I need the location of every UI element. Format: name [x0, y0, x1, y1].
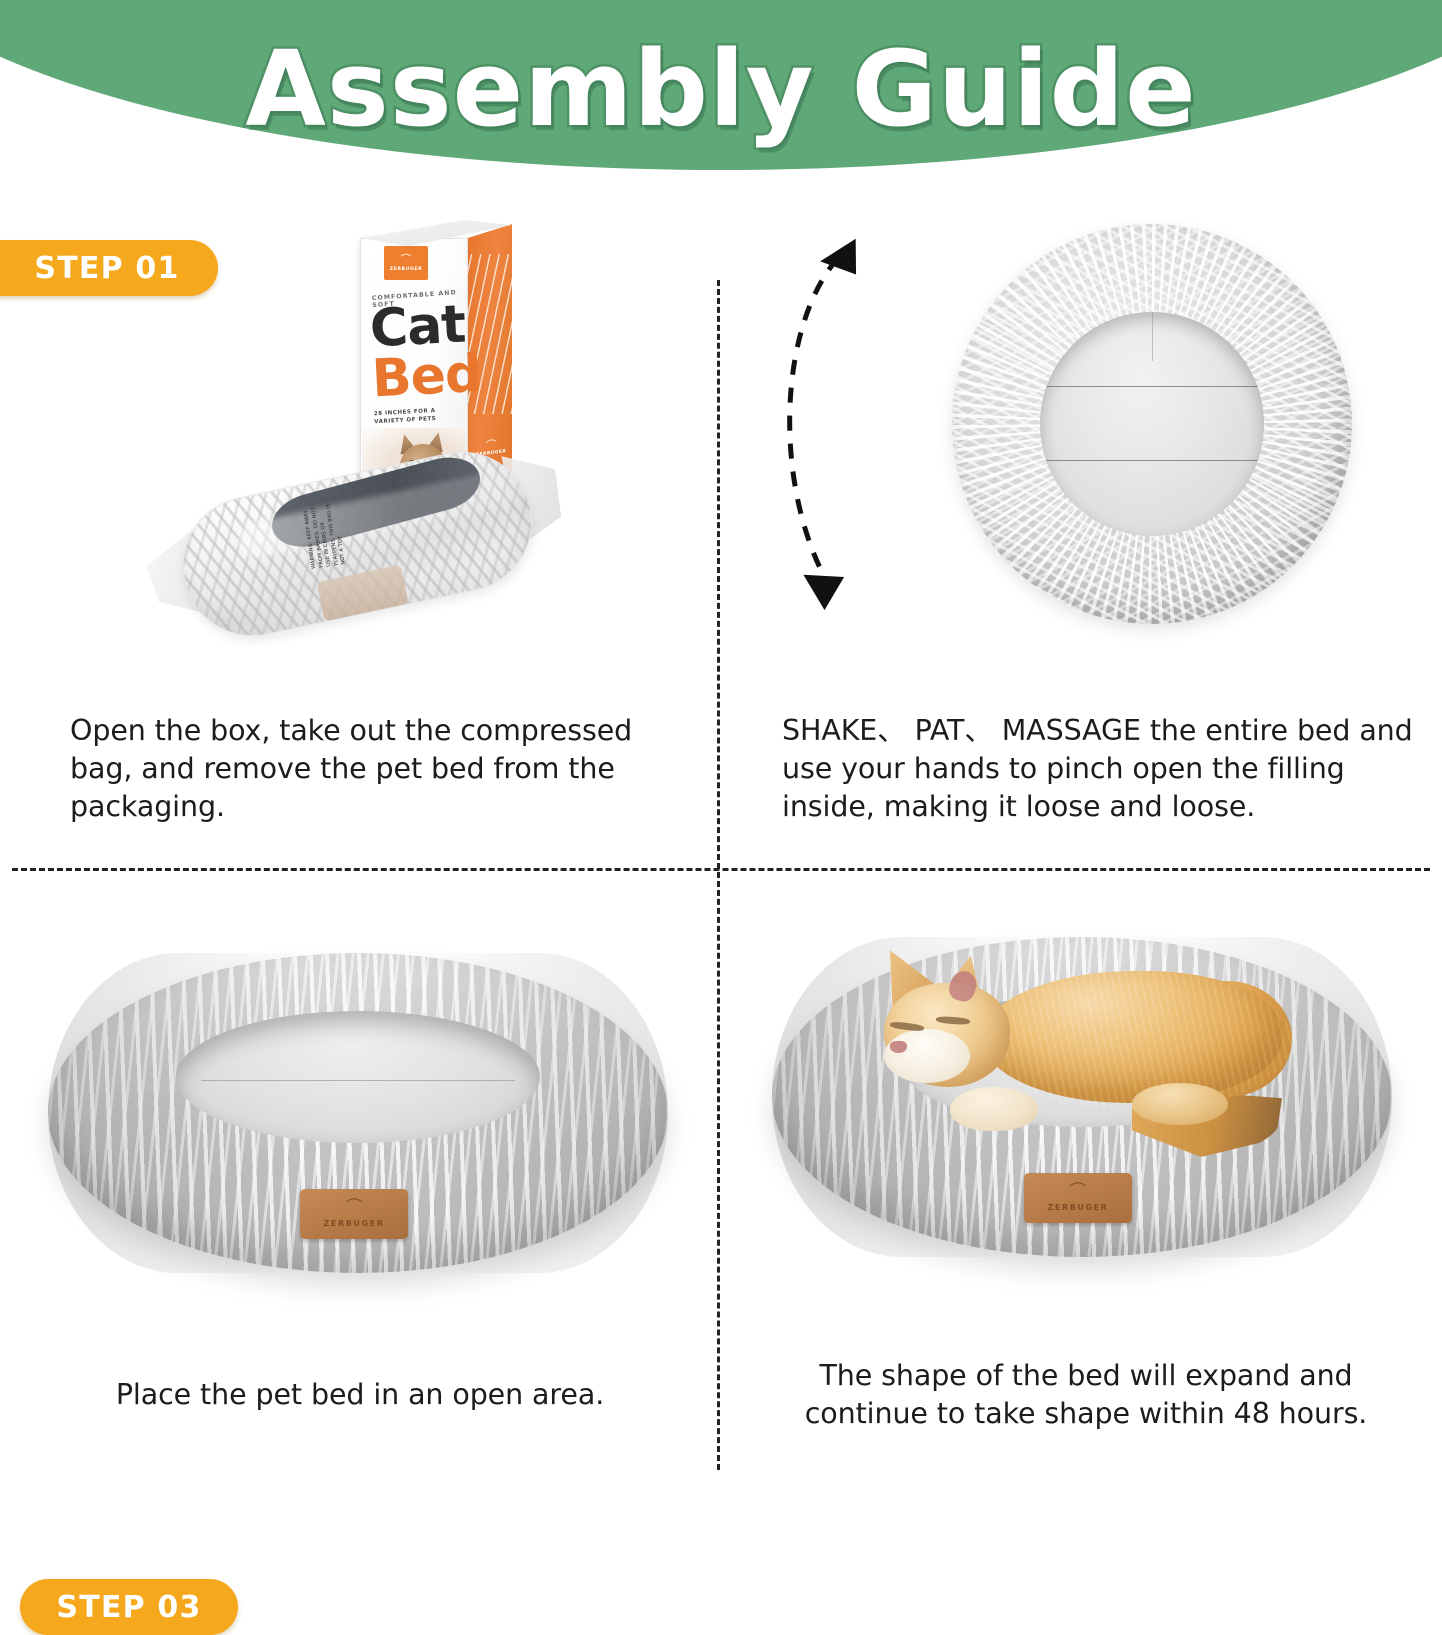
- box-logo-brand: ZERBUGER: [390, 267, 422, 272]
- step-panel-02: STEP 02 SHAKE、 PAT、 MASSAGE the entire b…: [720, 200, 1442, 868]
- step-panel-03: STEP 03 ⌒ ZERBUGER Place the pet bed in …: [0, 871, 717, 1500]
- step-caption-01: Open the box, take out the compressed ba…: [70, 712, 690, 827]
- steps-grid: STEP 01 ⌒ ZERBUGER COMFORTABLE AND SOFT …: [0, 200, 1442, 1500]
- box-title-bed: Bed: [371, 352, 469, 404]
- brand-glyph-icon: ⌒: [401, 254, 412, 265]
- vacuum-sealed-bag: WARNING: KEEP AWAY FROM BABIES. DO NOT U…: [132, 411, 584, 694]
- brand-leather-tag: ⌒ ZERBUGER: [1024, 1173, 1132, 1223]
- box-logo-badge: ⌒ ZERBUGER: [384, 246, 428, 280]
- step-04-illustration: ⌒ ZERBUGER: [772, 917, 1392, 1287]
- bag-body: WARNING: KEEP AWAY FROM BABIES. DO NOT U…: [170, 439, 545, 650]
- brand-leather-tag: ⌒ ZERBUGER: [300, 1189, 408, 1239]
- cat-body: [982, 971, 1282, 1103]
- cat-muzzle: [884, 1029, 970, 1083]
- cat-hind-paw: [1132, 1083, 1228, 1125]
- cat-front-paw: [950, 1087, 1038, 1131]
- step-02-illustration: [952, 224, 1352, 624]
- step-03-illustration: ⌒ ZERBUGER: [48, 933, 668, 1303]
- brand-glyph-icon-tag: ⌒: [1070, 1184, 1087, 1201]
- donut-bed-inner-cushion: [1040, 312, 1264, 536]
- sleeping-cat: [832, 937, 1302, 1147]
- step-caption-04: The shape of the bed will expand and con…: [756, 1357, 1416, 1433]
- brand-glyph-icon-tag: ⌒: [346, 1200, 363, 1217]
- brand-tag-name: ZERBUGER: [1047, 1203, 1108, 1212]
- cat-nose: [890, 1041, 907, 1053]
- brand-tag-name: ZERBUGER: [323, 1219, 384, 1228]
- cushion-seam-vertical: [1152, 312, 1153, 361]
- bag-warning-label: WARNING: KEEP AWAY FROM BABIES. DO NOT U…: [301, 492, 364, 569]
- step-01-illustration: ⌒ ZERBUGER COMFORTABLE AND SOFT Cat Bed …: [150, 220, 580, 660]
- step-badge-03: STEP 03: [20, 1579, 238, 1635]
- bed-cushion-seam: [201, 1080, 514, 1081]
- bed-inner-cushion: [176, 1011, 540, 1143]
- cushion-seam-bottom: [1040, 460, 1264, 461]
- step-caption-03: Place the pet bed in an open area.: [40, 1376, 680, 1414]
- header-banner: Assembly Guide: [0, 0, 1442, 200]
- step-panel-01: STEP 01 ⌒ ZERBUGER COMFORTABLE AND SOFT …: [0, 200, 717, 868]
- step-caption-02: SHAKE、 PAT、 MASSAGE the entire bed and u…: [782, 712, 1432, 827]
- page-title: Assembly Guide: [0, 34, 1442, 144]
- shake-arrow-icon: [760, 228, 950, 618]
- step-panel-04: STEP 04: [720, 871, 1442, 1500]
- cushion-seam-top: [1040, 386, 1264, 387]
